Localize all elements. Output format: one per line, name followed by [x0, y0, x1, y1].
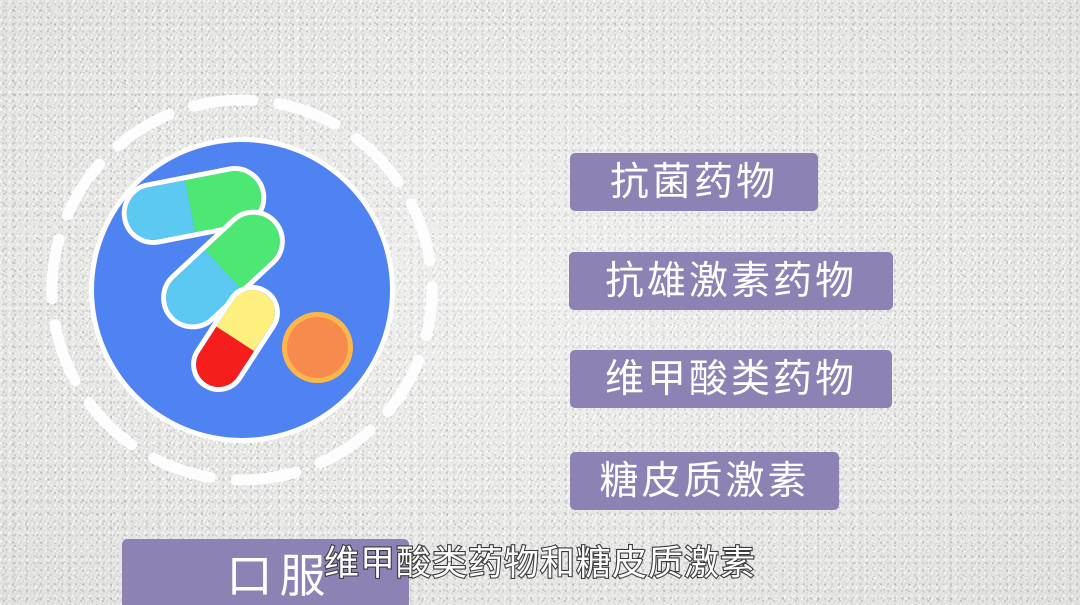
infographic-slide: 口服 抗菌药物 抗雄激素药物 维甲酸类药物 糖皮质激素 维甲酸类药物和糖皮质激素: [0, 0, 1080, 605]
video-subtitle-caption: 维甲酸类药物和糖皮质激素: [0, 545, 1080, 584]
pill-disc-background: [94, 142, 390, 438]
round-tablet-orange-icon: [282, 312, 353, 383]
capsule-half-blue: [122, 180, 195, 244]
oral-medication-icon-cluster: 口服: [24, 78, 464, 548]
drug-list-item-antiandrogen: 抗雄激素药物: [569, 252, 893, 310]
drug-list-item-antibacterial: 抗菌药物: [570, 153, 818, 211]
drug-list-item-retinoid: 维甲酸类药物: [570, 350, 892, 408]
drug-list-item-glucocorticoid: 糖皮质激素: [570, 452, 839, 510]
